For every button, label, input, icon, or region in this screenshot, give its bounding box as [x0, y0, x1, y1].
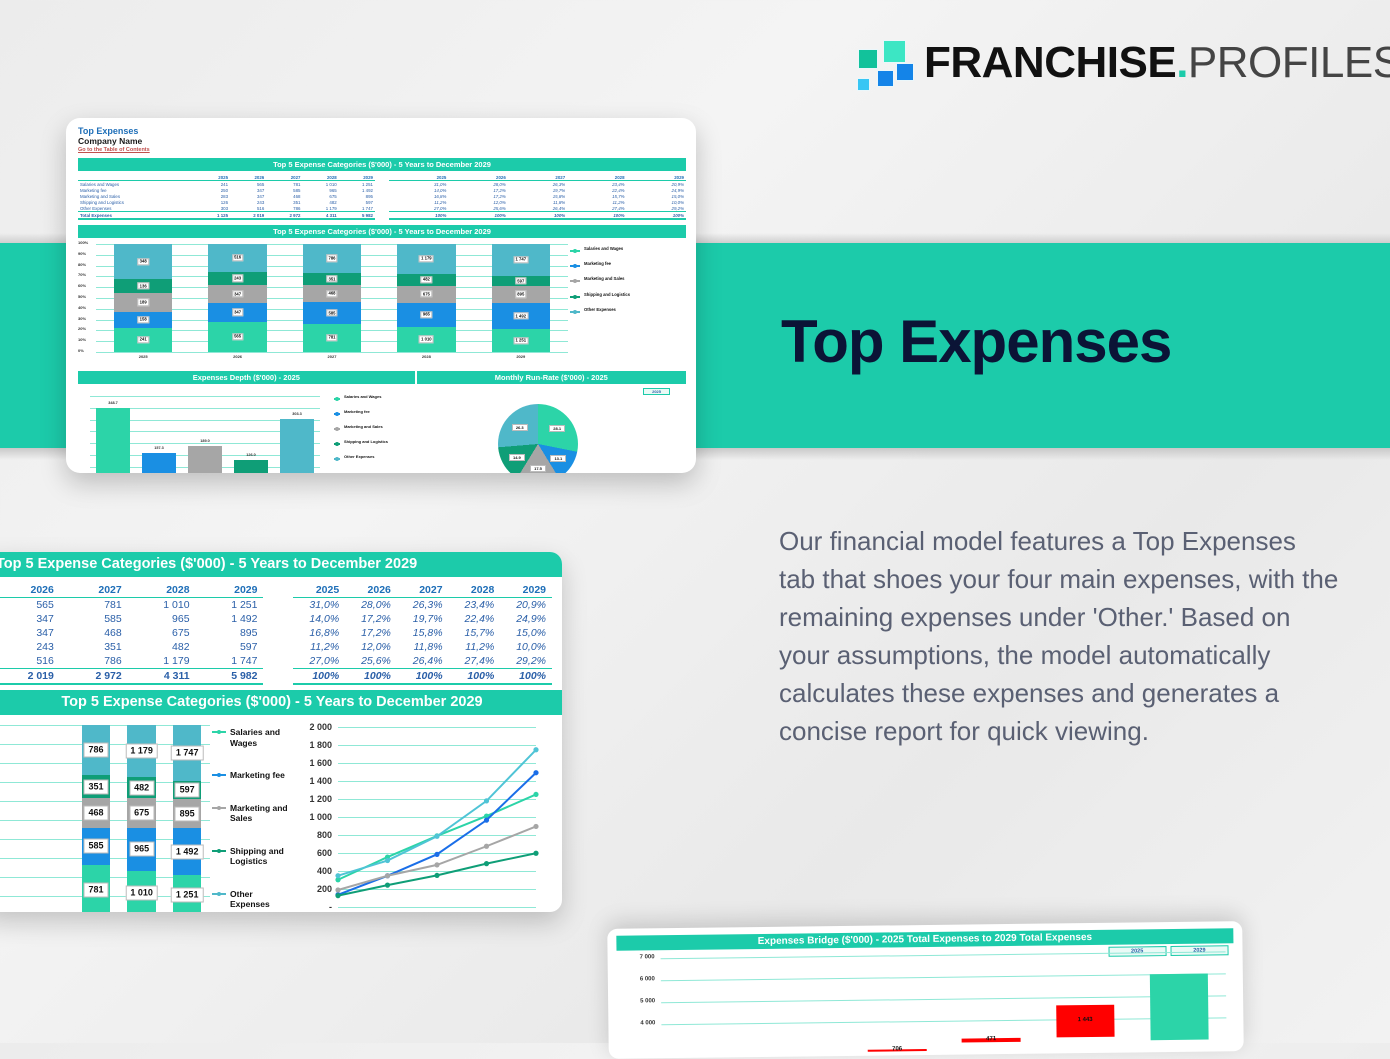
waterfall-value-label: 471	[962, 1036, 1020, 1043]
legend-label: Other Expenses	[230, 889, 288, 910]
total-cell: 100%	[397, 669, 449, 685]
column-header: 2025	[293, 583, 345, 598]
bar-segment: 895	[173, 799, 201, 827]
table-cell: 17,2%	[345, 626, 397, 640]
table-row: 3475859651 492	[0, 612, 263, 626]
bar-value-label: 585	[326, 309, 337, 316]
table-cell: 585	[60, 612, 128, 626]
bar-segment: 468	[82, 798, 110, 828]
legend-swatch-icon	[334, 398, 340, 400]
legend-label: Shipping and Logistics	[344, 439, 388, 445]
table-cell: 24,9%	[500, 612, 552, 626]
bar-value-label: 482	[129, 780, 154, 795]
total-cell: 5 982	[339, 212, 375, 220]
sheet-title: Top Expenses	[78, 126, 686, 136]
table-row: Shipping and Logistics126243351482597	[78, 199, 375, 205]
panel-title-categories-bl: Top 5 Expense Categories ($'000) - 5 Yea…	[0, 552, 562, 577]
column-header: 2029	[196, 583, 264, 598]
table-cell: 675	[128, 626, 196, 640]
legend-label: Shipping and Logistics	[584, 292, 630, 298]
bar-value-label: 565	[232, 333, 243, 340]
legend-item[interactable]: Shipping and Logistics	[212, 846, 288, 867]
bar-segment: 786	[303, 244, 362, 273]
bar-value-label: 189	[137, 299, 148, 306]
table-cell: 17,2%	[345, 612, 397, 626]
table-total-row: Total Expenses1 1252 0192 9724 3115 982	[78, 212, 375, 220]
stacked-bar-column[interactable]: 1 0109656754821 179	[397, 244, 456, 352]
expense-percent-table: 2025202620272028202931,0%28,0%26,3%23,4%…	[389, 174, 686, 220]
y-axis-tick: 4 000	[621, 1020, 655, 1026]
logo-square-1	[858, 49, 878, 69]
bar-segment: 895	[492, 286, 551, 302]
legend-swatch-icon	[212, 774, 226, 776]
bar-segment: 468	[303, 285, 362, 302]
bar-segment: 1 747	[173, 725, 201, 780]
table-row: 347468675895	[0, 626, 263, 640]
page-title: Top Expenses	[781, 307, 1171, 376]
x-axis-tick: 2025	[114, 354, 173, 359]
sheet-header: Top Expenses Company Name Go to the Tabl…	[78, 126, 686, 153]
bar-value-label: 348.7	[96, 401, 130, 405]
bar-value-label: 468	[83, 805, 108, 820]
chart-stacked-bl[interactable]: 78158546835178620271 0109656754821 17920…	[0, 719, 282, 912]
bar-value-label: 965	[421, 311, 432, 318]
x-axis-tick: 2027	[303, 354, 362, 359]
table-cell: 29,2%	[500, 654, 552, 669]
legend-item[interactable]: Shipping and Logistics	[570, 292, 682, 298]
table-cell: 12,0%	[345, 640, 397, 654]
gridline	[96, 352, 568, 353]
table-cell: 22,4%	[449, 612, 501, 626]
total-cell: 100%	[508, 212, 567, 220]
bar-value-label: 189.0	[188, 439, 222, 443]
y-axis-tick: 20%	[78, 326, 86, 331]
line-series-svg	[282, 719, 544, 912]
pie-chart[interactable]	[498, 404, 578, 473]
table-of-contents-link[interactable]: Go to the Table of Contents	[78, 147, 686, 153]
table-row: 5167861 1791 747	[0, 654, 263, 669]
bar-segment: 597	[492, 276, 551, 287]
table-cell: 28,0%	[345, 598, 397, 613]
total-cell: 100%	[449, 669, 501, 685]
bar-segment: 585	[303, 302, 362, 323]
panel-title-depth: Expenses Depth ($'000) - 2025	[78, 371, 417, 384]
bar-segment: 1 010	[397, 327, 456, 352]
table-cell: 19,7%	[397, 612, 449, 626]
legend-label: Marketing and Sales	[344, 424, 383, 430]
year-badge[interactable]: 2025	[643, 388, 670, 395]
total-cell: 2 972	[266, 212, 302, 220]
table-cell: 347	[0, 626, 60, 640]
bar-value-label: 786	[83, 743, 108, 758]
total-cell: 2 019	[0, 669, 60, 685]
hero-paragraph: Our financial model features a Top Expen…	[779, 522, 1339, 750]
y-axis-tick: 100%	[78, 240, 88, 245]
table-cell: 1 747	[196, 654, 264, 669]
subpanel-titles: Expenses Depth ($'000) - 2025 Monthly Ru…	[78, 366, 686, 384]
bar-value-label: 1 179	[125, 744, 158, 759]
legend-item[interactable]: Marketing and Sales	[334, 424, 412, 430]
waterfall-value-label: 706	[868, 1046, 926, 1053]
bar-segment: 348	[114, 244, 173, 279]
bar-segment: 585	[82, 828, 110, 865]
bar-value-label: 585	[83, 839, 108, 854]
waterfall-value-label: 1 443	[1056, 1017, 1114, 1024]
bar-value-label: 243	[232, 274, 243, 281]
brand-wordmark: FRANCHISE.PROFILES	[924, 38, 1390, 88]
total-cell: 100%	[567, 212, 626, 220]
logo-square-3	[877, 70, 894, 87]
screenshot-expense-categories-detail[interactable]: Top 5 Expense Categories ($'000) - 5 Yea…	[0, 552, 562, 912]
bar-segment: 1 179	[397, 244, 456, 274]
sheet-company: Company Name	[78, 136, 686, 146]
table-cell: 482	[128, 640, 196, 654]
total-cell: 100%	[293, 669, 345, 685]
legend-item[interactable]: Other Expenses	[570, 307, 682, 313]
table-cell: 468	[60, 626, 128, 640]
bl-charts-row: 78158546835178620271 0109656754821 17920…	[0, 715, 562, 912]
pie-slice-label: 17.5	[530, 465, 546, 472]
table-row: 31,0%28,0%26,3%23,4%20,9%	[293, 598, 552, 613]
bar-value-label: 1 492	[513, 312, 528, 319]
table-cell: 20,9%	[500, 598, 552, 613]
table-cell: 27,4%	[449, 654, 501, 669]
table-total-row: 100%100%100%100%100%	[293, 669, 552, 685]
legend-label: Marketing and Sales	[584, 276, 625, 282]
legend-item[interactable]: Other Expenses	[212, 889, 288, 910]
pie-slice-label: 28.1	[549, 425, 565, 432]
screenshot-expenses-bridge[interactable]: Expenses Bridge ($'000) - 2025 Total Exp…	[607, 921, 1244, 1059]
y-axis-tick: 60%	[78, 283, 86, 288]
y-axis-tick: 90%	[78, 251, 86, 256]
bar-segment: 675	[397, 286, 456, 303]
chart-monthly-runrate-pie[interactable]: Salaries and WagesMarketing feeMarketing…	[330, 386, 680, 473]
bar-value-label: 348	[137, 258, 148, 265]
panel-title-categories: Top 5 Expense Categories ($'000) - 5 Yea…	[78, 158, 686, 171]
bar-value-label: 1 251	[513, 337, 528, 344]
legend-label: Salaries and Wages	[584, 246, 623, 252]
bar-segment: 516	[208, 244, 267, 272]
bar-value-label: 786	[326, 255, 337, 262]
table-cell: 1 010	[128, 598, 196, 613]
total-label: Total Expenses	[78, 212, 194, 220]
total-cell: 100%	[389, 212, 448, 220]
legend-swatch-icon	[570, 280, 580, 282]
chart-legend: Salaries and WagesMarketing feeMarketing…	[570, 246, 682, 322]
bar-segment: 136	[114, 279, 173, 293]
bar-segment: 965	[127, 828, 155, 871]
chart-stacked-100-top[interactable]: 100%90%80%70%60%50%40%30%20%10%0%2411581…	[78, 238, 686, 366]
total-cell: 100%	[345, 669, 397, 685]
y-axis-tick: 5 000	[621, 998, 655, 1004]
legend-item[interactable]: Marketing fee	[334, 409, 412, 415]
table-cell: 15,0%	[500, 626, 552, 640]
legend-swatch-icon	[570, 250, 580, 252]
legend-swatch-icon	[334, 428, 340, 430]
table-cell: 781	[60, 598, 128, 613]
table-cell: 10,0%	[500, 640, 552, 654]
table-cell: 1 179	[128, 654, 196, 669]
legend-item[interactable]: Marketing and Sales	[212, 803, 288, 824]
logo-squares-icon	[852, 35, 908, 91]
bar-value-label: 1 747	[513, 256, 528, 263]
column-header: 2029	[500, 583, 552, 598]
table-cell: 1 492	[196, 612, 264, 626]
expense-values-table-bl: 20262027202820295657811 0101 25134758596…	[0, 583, 263, 685]
bar-segment: 1 251	[173, 875, 201, 912]
table-row: 16,8%17,2%15,8%15,7%15,0%	[293, 626, 552, 640]
bl-table-wrap: 20262027202820295657811 0101 25134758596…	[0, 577, 562, 685]
bar-segment: 347	[208, 285, 267, 304]
bar-segment: 1 492	[173, 828, 201, 875]
bar-segment: 781	[303, 324, 362, 352]
legend-swatch-icon	[570, 265, 580, 267]
chart-title-categories: Top 5 Expense Categories ($'000) - 5 Yea…	[78, 225, 686, 238]
logo-square-4	[896, 63, 914, 81]
bar-value-label: 158	[137, 316, 148, 323]
bar-value-label: 675	[129, 806, 154, 821]
table-cell: 15,7%	[449, 626, 501, 640]
x-axis-tick: 2029	[492, 354, 551, 359]
waterfall-bar[interactable]	[1150, 974, 1209, 1040]
table-row: 5657811 0101 251	[0, 598, 263, 613]
bar-value-label: 516	[232, 254, 243, 261]
y-axis-tick: 70%	[78, 272, 86, 277]
total-cell: 100%	[448, 212, 507, 220]
bar-value-label: 895	[515, 291, 526, 298]
gridline	[661, 951, 1226, 959]
total-cell: 5 982	[196, 669, 264, 685]
table-cell: 1 251	[196, 598, 264, 613]
bar-value-label: 675	[421, 290, 432, 297]
bar-value-label: 136	[137, 282, 148, 289]
brand-name-bold: FRANCHISE	[924, 38, 1176, 87]
table-cell: 243	[0, 640, 60, 654]
bar-segment: 786	[82, 725, 110, 775]
pie-slice-label: 26.3	[512, 424, 528, 431]
table-cell: 23,4%	[449, 598, 501, 613]
legend-label: Other Expenses	[584, 307, 616, 313]
br-inner: Expenses Bridge ($'000) - 2025 Total Exp…	[607, 921, 1243, 1047]
column-header: 2027	[60, 583, 128, 598]
gridline	[661, 1017, 1226, 1025]
table-cell: 25,6%	[345, 654, 397, 669]
y-axis-tick: 0%	[78, 348, 84, 353]
total-cell: 4 311	[128, 669, 196, 685]
expense-table-wrap: 20252026202720282029Salaries and Wages24…	[78, 174, 686, 220]
legend-label: Other Expenses	[344, 454, 374, 460]
y-axis-tick: 6 000	[621, 976, 655, 982]
bar-value-label: 347	[232, 309, 243, 316]
bar-segment: 241	[114, 328, 173, 352]
bar-segment: 351	[82, 775, 110, 797]
legend-item[interactable]: Marketing fee	[570, 261, 682, 267]
legend-item[interactable]: Salaries and Wages	[570, 246, 682, 252]
bar-segment: 158	[114, 312, 173, 328]
table-cell: 11,2%	[449, 640, 501, 654]
stacked-bar-column[interactable]: 781585468351786	[82, 725, 110, 912]
screenshot-top-expenses-sheet[interactable]: Top Expenses Company Name Go to the Tabl…	[66, 118, 696, 473]
bar-value-label: 895	[175, 806, 200, 821]
stacked-bar-column[interactable]: 1 0109656754821 179	[127, 725, 155, 912]
stacked-bar-column[interactable]: 565347347243516	[208, 244, 267, 352]
table-row: 14,0%17,2%19,7%22,4%24,9%	[293, 612, 552, 626]
bar-value-label: 482	[421, 276, 432, 283]
table-row: 11,2%12,0%11,8%11,2%10,0%	[293, 640, 552, 654]
table-row: 243351482597	[0, 640, 263, 654]
table-cell: 597	[196, 640, 264, 654]
bar-segment: 482	[397, 274, 456, 286]
expense-values-table: 20252026202720282029Salaries and Wages24…	[78, 174, 375, 220]
table-cell: 15,8%	[397, 626, 449, 640]
legend-swatch-icon	[212, 807, 226, 809]
bar-value-label: 1 251	[171, 888, 204, 903]
bar-segment: 965	[397, 303, 456, 327]
panel-title-runrate: Monthly Run-Rate ($'000) - 2025	[417, 371, 686, 384]
table-cell: 965	[128, 612, 196, 626]
legend-swatch-icon	[334, 413, 340, 415]
pie-slice-label: 14.9	[509, 454, 525, 461]
stacked-bar-column[interactable]: 781585468351786	[303, 244, 362, 352]
total-cell: 100%	[500, 669, 552, 685]
gridline	[661, 973, 1226, 981]
stacked-bar-column[interactable]: 1 2511 4928955971 747	[173, 725, 201, 912]
bar-segment: 189	[114, 293, 173, 312]
legend-swatch-icon	[212, 731, 226, 733]
x-axis-tick: 2026	[208, 354, 267, 359]
bar-segment: 675	[127, 798, 155, 828]
bar-value-label: 781	[83, 883, 108, 898]
column-header: 2028	[128, 583, 196, 598]
bar-segment: 351	[303, 273, 362, 286]
table-cell: 786	[60, 654, 128, 669]
legend-swatch-icon	[212, 893, 226, 895]
total-cell: 2 972	[60, 669, 128, 685]
bar-value-label: 1 747	[171, 745, 204, 760]
legend-swatch-icon	[334, 443, 340, 445]
legend-item[interactable]: Salaries and Wages	[334, 394, 412, 400]
logo-square-5	[857, 78, 870, 91]
bar-segment: 243	[208, 272, 267, 285]
bar-segment: 482	[127, 777, 155, 798]
bar-value-label: 1 492	[171, 844, 204, 859]
table-cell: 351	[60, 640, 128, 654]
table-cell: 14,0%	[293, 612, 345, 626]
table-cell: 11,2%	[293, 640, 345, 654]
bar-value-label: 241	[137, 336, 148, 343]
bar-value-label: 1 010	[125, 885, 158, 900]
bar-value-label: 597	[175, 783, 200, 798]
brand-logo[interactable]: FRANCHISE.PROFILES	[852, 35, 1390, 91]
bar-value-label: 597	[515, 277, 526, 284]
table-header-row: 2026202720282029	[0, 583, 263, 598]
gridline	[90, 396, 320, 397]
chart-waterfall-bridge[interactable]: 4 0005 0006 0007 0007064711 443	[617, 947, 1235, 1047]
bar[interactable]	[96, 408, 130, 473]
legend-item[interactable]: Shipping and Logistics	[334, 439, 412, 445]
column-header: 2027	[397, 583, 449, 598]
logo-square-2	[883, 40, 906, 63]
total-cell: 4 311	[303, 212, 339, 220]
bar-value-label: 351	[326, 275, 337, 282]
legend-item[interactable]: Salaries and Wages	[212, 727, 288, 748]
legend-label: Marketing fee	[230, 770, 285, 781]
bar[interactable]	[188, 446, 222, 473]
legend-label: Marketing and Sales	[230, 803, 288, 824]
bar-segment: 565	[208, 322, 267, 352]
chart-legend: Salaries and WagesMarketing feeMarketing…	[334, 394, 412, 469]
legend-label: Salaries and Wages	[230, 727, 288, 748]
total-cell: 1 125	[194, 212, 230, 220]
bar[interactable]	[280, 419, 314, 473]
bar-value-label: 126.0	[234, 453, 268, 457]
bar[interactable]	[234, 460, 268, 473]
bar-value-label: 781	[326, 334, 337, 341]
bar-segment: 597	[173, 781, 201, 800]
table-cell: 11,8%	[397, 640, 449, 654]
bar-segment: 1 251	[492, 329, 551, 352]
legend-swatch-icon	[570, 311, 580, 313]
total-cell: 100%	[627, 212, 686, 220]
legend-item[interactable]: Other Expenses	[334, 454, 412, 460]
y-axis-tick: 50%	[78, 294, 86, 299]
stacked-bar-column[interactable]: 241158189136348	[114, 244, 173, 352]
stacked-bar-column[interactable]: 1 2511 4928955971 747	[492, 244, 551, 352]
table-header-row: 20252026202720282029	[293, 583, 552, 598]
legend-label: Marketing fee	[584, 261, 611, 267]
table-cell: 31,0%	[293, 598, 345, 613]
chart-line-bl[interactable]: -2004006008001 0001 2001 4001 6001 8002 …	[282, 719, 544, 912]
bar[interactable]	[142, 453, 176, 473]
bar-value-label: 1 010	[419, 336, 434, 343]
column-header: 2028	[449, 583, 501, 598]
bar-value-label: 351	[83, 779, 108, 794]
table-total-row: 100%100%100%100%100%	[389, 212, 686, 220]
lower-charts-row: 348.7157.3189.0126.0303.3 Salaries and W…	[78, 384, 686, 473]
table-cell: 347	[0, 612, 60, 626]
bar-value-label: 1 179	[419, 255, 434, 262]
table-cell: 565	[0, 598, 60, 613]
pie-slice-label: 13.1	[550, 455, 566, 462]
chart-legend: Salaries and WagesMarketing feeMarketing…	[212, 727, 288, 912]
y-axis-tick: 30%	[78, 316, 86, 321]
total-cell: 2 019	[230, 212, 266, 220]
table-row: 27,0%25,6%26,4%27,4%29,2%	[293, 654, 552, 669]
column-header: 2026	[345, 583, 397, 598]
legend-item[interactable]: Marketing and Sales	[570, 276, 682, 282]
bar-segment: 347	[208, 303, 267, 322]
bar-segment: 1 010	[127, 871, 155, 913]
y-axis-tick: 7 000	[621, 954, 655, 960]
legend-swatch-icon	[212, 850, 226, 852]
bar-segment: 1 747	[492, 244, 551, 276]
table-cell: 895	[196, 626, 264, 640]
table-cell: 26,4%	[397, 654, 449, 669]
table-cell: 27,0%	[293, 654, 345, 669]
brand-dot: .	[1176, 38, 1188, 87]
bar-segment: 1 179	[127, 725, 155, 777]
bar-value-label: 157.3	[142, 446, 176, 450]
chart-expenses-depth[interactable]: 348.7157.3189.0126.0303.3	[80, 388, 326, 473]
legend-item[interactable]: Marketing fee	[212, 770, 288, 781]
bar-value-label: 347	[232, 290, 243, 297]
x-axis-tick: 2028	[397, 354, 456, 359]
chart-title-categories-bl: Top 5 Expense Categories ($'000) - 5 Yea…	[0, 690, 562, 715]
bar-segment: 781	[82, 865, 110, 912]
bar-value-label: 303.3	[280, 412, 314, 416]
bar-value-label: 468	[326, 290, 337, 297]
legend-label: Marketing fee	[344, 409, 370, 415]
